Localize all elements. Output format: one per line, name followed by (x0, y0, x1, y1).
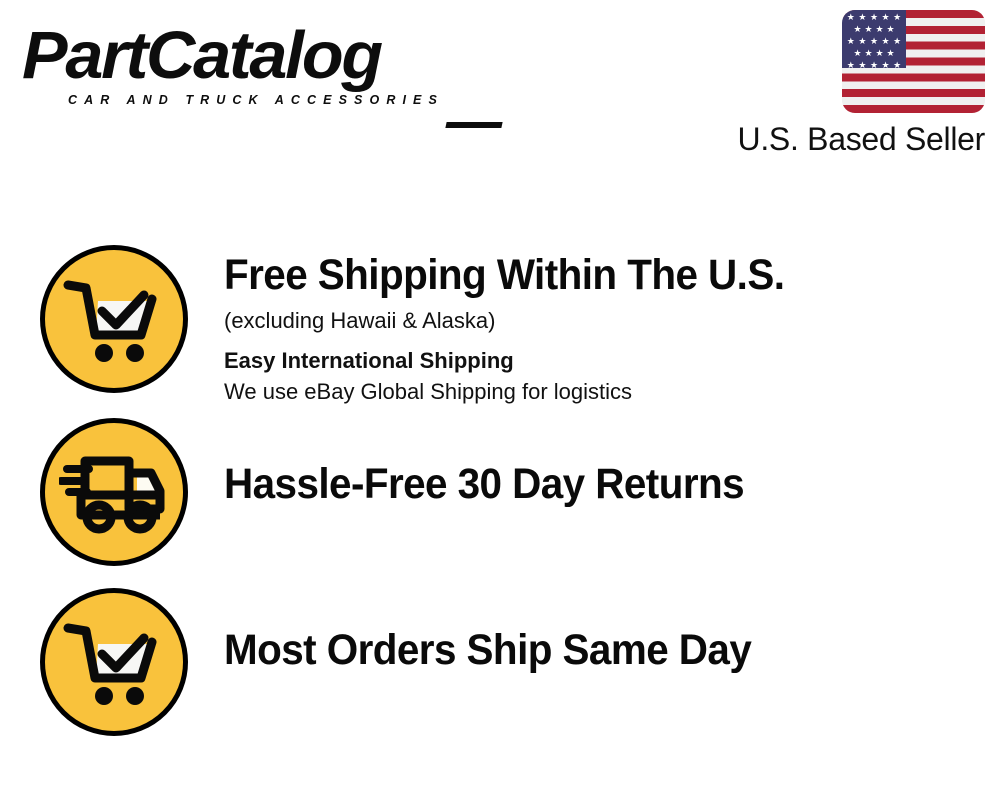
flag-star-row: ★ ★ ★ ★ ★ (842, 37, 906, 46)
brand-logo[interactable]: PartCatalog CAR AND TRUCK ACCESSORIES (22, 22, 492, 107)
flag-star: ★ (858, 37, 866, 46)
flag-star: ★ (870, 61, 878, 70)
benefit-title: Free Shipping Within The U.S. (224, 251, 784, 299)
delivery-truck-icon (40, 418, 188, 566)
flag-star-row: ★ ★ ★ ★ (842, 25, 906, 34)
flag-canton: ★ ★ ★ ★ ★ ★ ★ ★ ★ ★ ★ ★ ★ ★ (842, 10, 906, 68)
benefit-subtitle-exclusion: (excluding Hawaii & Alaska) (224, 306, 820, 336)
flag-star: ★ (882, 61, 890, 70)
us-flag-icon: ★ ★ ★ ★ ★ ★ ★ ★ ★ ★ ★ ★ ★ ★ (842, 10, 985, 113)
benefit-subtitle-logistics: We use eBay Global Shipping for logistic… (224, 377, 820, 407)
benefit-subtitle-international: Easy International Shipping (224, 346, 820, 376)
flag-star: ★ (870, 13, 878, 22)
logo-tagline: CAR AND TRUCK ACCESSORIES (68, 93, 492, 107)
benefit-row: Most Orders Ship Same Day (40, 588, 940, 736)
flag-star: ★ (853, 25, 861, 34)
flag-star: ★ (893, 61, 901, 70)
benefit-row: Hassle-Free 30 Day Returns (40, 418, 940, 566)
flag-star: ★ (864, 25, 872, 34)
benefit-text-block: Most Orders Ship Same Day (224, 588, 785, 674)
flag-star-row: ★ ★ ★ ★ (842, 49, 906, 58)
flag-star: ★ (886, 25, 894, 34)
flag-star: ★ (882, 37, 890, 46)
benefit-title: Hassle-Free 30 Day Returns (224, 460, 744, 508)
flag-star-row: ★ ★ ★ ★ ★ (842, 61, 906, 70)
benefit-row: Free Shipping Within The U.S. (excluding… (40, 245, 940, 407)
flag-star: ★ (875, 25, 883, 34)
benefit-text-block: Free Shipping Within The U.S. (excluding… (224, 245, 820, 407)
flag-star: ★ (875, 49, 883, 58)
flag-star: ★ (847, 37, 855, 46)
page-header: PartCatalog CAR AND TRUCK ACCESSORIES ★ … (0, 0, 1000, 175)
flag-star: ★ (893, 13, 901, 22)
flag-star: ★ (864, 49, 872, 58)
benefit-text-block: Hassle-Free 30 Day Returns (224, 418, 777, 508)
flag-star: ★ (893, 37, 901, 46)
shopping-cart-check-icon (40, 245, 188, 393)
flag-star-row: ★ ★ ★ ★ ★ (842, 13, 906, 22)
flag-star: ★ (847, 61, 855, 70)
logo-wordmark: PartCatalog (22, 22, 501, 90)
flag-star: ★ (886, 49, 894, 58)
flag-star: ★ (847, 13, 855, 22)
flag-star: ★ (882, 13, 890, 22)
flag-star: ★ (858, 61, 866, 70)
seller-label: U.S. Based Seller (715, 121, 985, 158)
shopping-cart-check-icon (40, 588, 188, 736)
benefit-title: Most Orders Ship Same Day (224, 626, 751, 674)
us-based-seller-badge: ★ ★ ★ ★ ★ ★ ★ ★ ★ ★ ★ ★ ★ ★ (715, 10, 985, 158)
flag-star: ★ (853, 49, 861, 58)
flag-star: ★ (870, 37, 878, 46)
flag-star: ★ (858, 13, 866, 22)
logo-underline-accent (445, 122, 502, 128)
